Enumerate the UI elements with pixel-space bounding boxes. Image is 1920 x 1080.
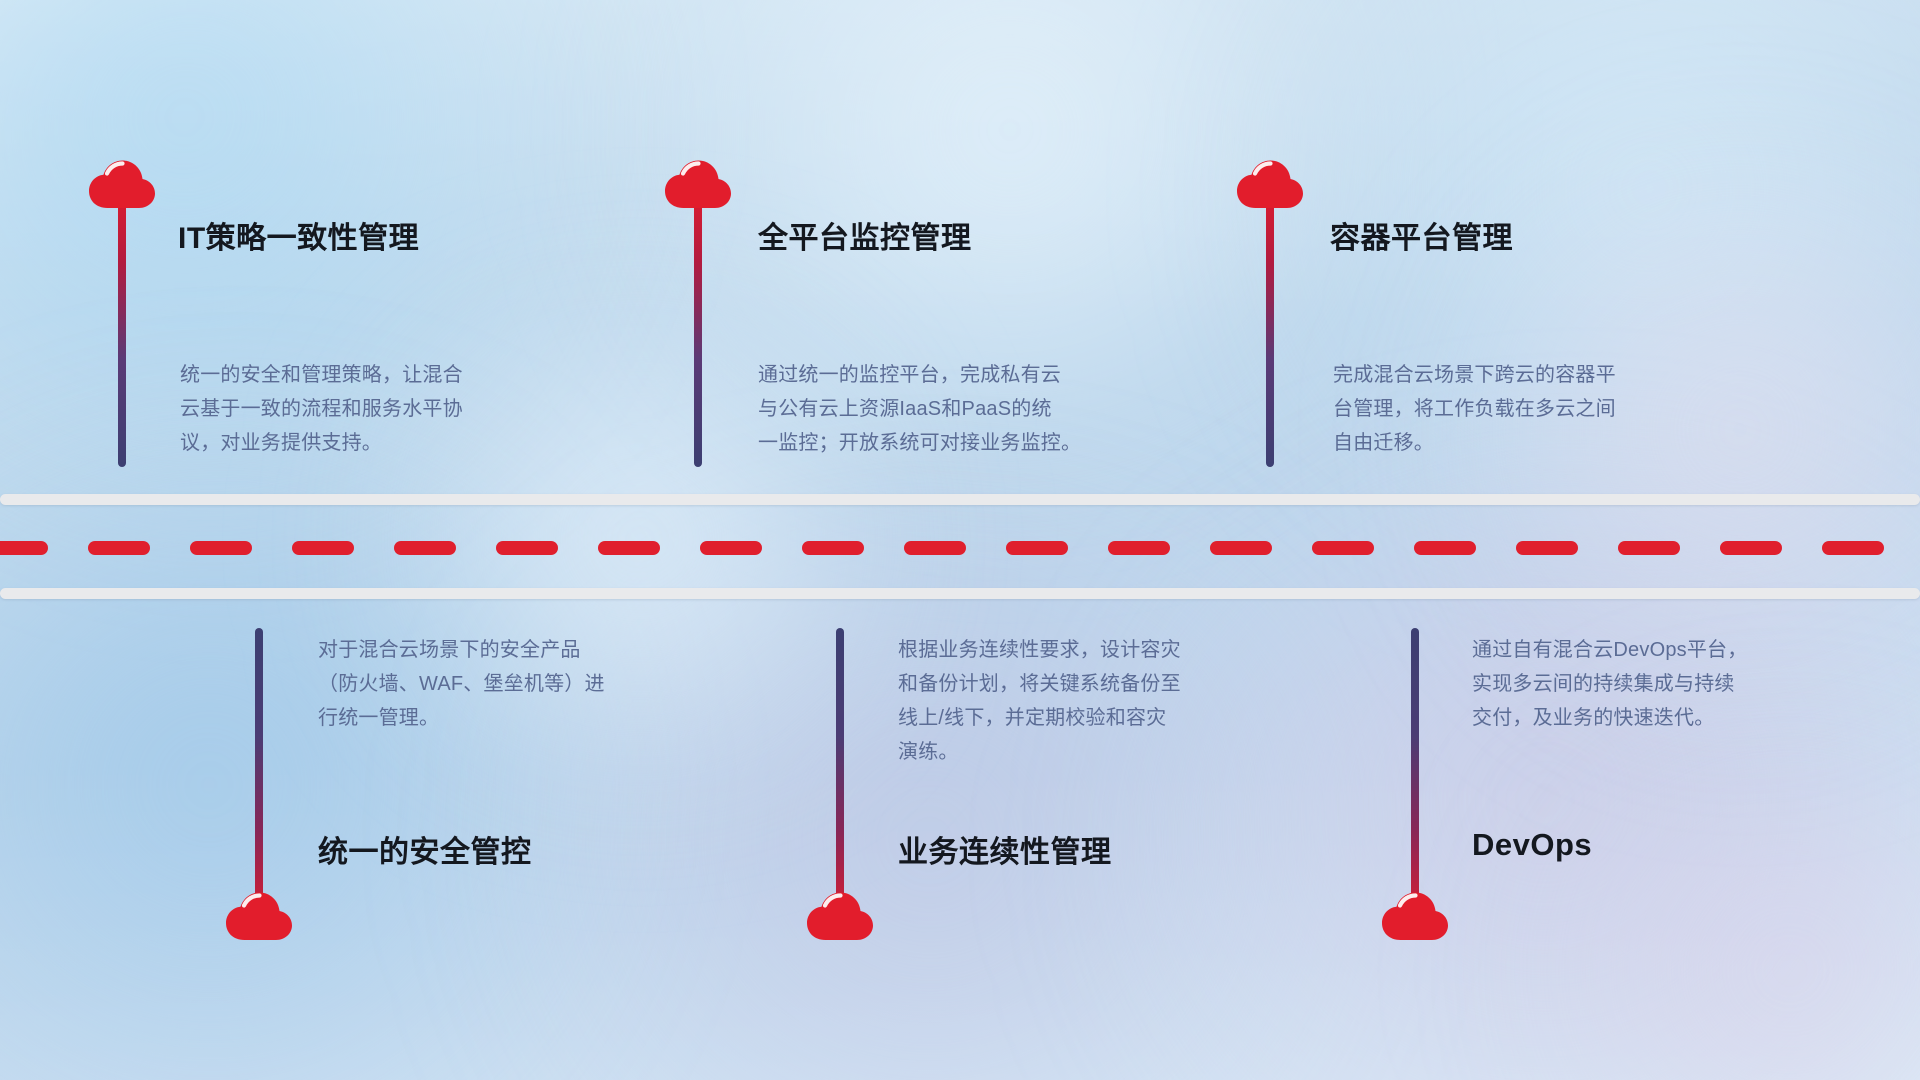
- road-dash: [598, 541, 660, 555]
- card-description: 通过统一的监控平台，完成私有云 与公有云上资源IaaS和PaaS的统 一监控；开…: [758, 358, 1198, 460]
- road-edge-line-upper: [0, 494, 1920, 505]
- pin-line: [118, 182, 126, 467]
- road-dash: [1618, 541, 1680, 555]
- card-description: 通过自有混合云DevOps平台， 实现多云间的持续集成与持续 交付，及业务的快速…: [1472, 633, 1902, 735]
- pin-line: [836, 628, 844, 913]
- infographic-canvas: IT策略一致性管理 统一的安全和管理策略，让混合 云基于一致的流程和服务水平协 …: [0, 0, 1920, 1080]
- card-title: 全平台监控管理: [758, 213, 972, 257]
- card-title: DevOps: [1472, 827, 1592, 863]
- road-dash: [1720, 541, 1782, 555]
- road-dash: [190, 541, 252, 555]
- road-dash: [904, 541, 966, 555]
- road-dash: [394, 541, 456, 555]
- card-description: 根据业务连续性要求，设计容灾 和备份计划，将关键系统备份至 线上/线下，并定期校…: [898, 633, 1328, 769]
- road-dash: [0, 541, 48, 555]
- cloud-icon: [1235, 158, 1305, 210]
- road-dash: [88, 541, 150, 555]
- road-dash: [1312, 541, 1374, 555]
- cloud-icon: [805, 890, 875, 942]
- card-title: 业务连续性管理: [898, 827, 1112, 871]
- pin-line: [255, 628, 263, 913]
- road-dash: [700, 541, 762, 555]
- road-dash: [1822, 541, 1884, 555]
- road-dash: [1108, 541, 1170, 555]
- cloud-icon: [663, 158, 733, 210]
- road-dash: [1414, 541, 1476, 555]
- card-title: 统一的安全管控: [318, 827, 532, 871]
- road-center-dashes: [0, 541, 1920, 555]
- card-title: 容器平台管理: [1330, 213, 1513, 257]
- card-description: 对于混合云场景下的安全产品 （防火墙、WAF、堡垒机等）进 行统一管理。: [318, 633, 748, 735]
- road-edge-line-lower: [0, 588, 1920, 599]
- road-dash: [802, 541, 864, 555]
- pin-line: [1266, 182, 1274, 467]
- road-dash: [496, 541, 558, 555]
- card-description: 完成混合云场景下跨云的容器平 台管理，将工作负载在多云之间 自由迁移。: [1333, 358, 1763, 460]
- road-dash: [1006, 541, 1068, 555]
- cloud-icon: [1380, 890, 1450, 942]
- road-dash: [1210, 541, 1272, 555]
- road-dash: [1516, 541, 1578, 555]
- cloud-icon: [87, 158, 157, 210]
- pin-line: [1411, 628, 1419, 913]
- cloud-icon: [224, 890, 294, 942]
- card-description: 统一的安全和管理策略，让混合 云基于一致的流程和服务水平协 议，对业务提供支持。: [180, 358, 610, 460]
- road-dash: [292, 541, 354, 555]
- card-title: IT策略一致性管理: [178, 213, 419, 257]
- pin-line: [694, 182, 702, 467]
